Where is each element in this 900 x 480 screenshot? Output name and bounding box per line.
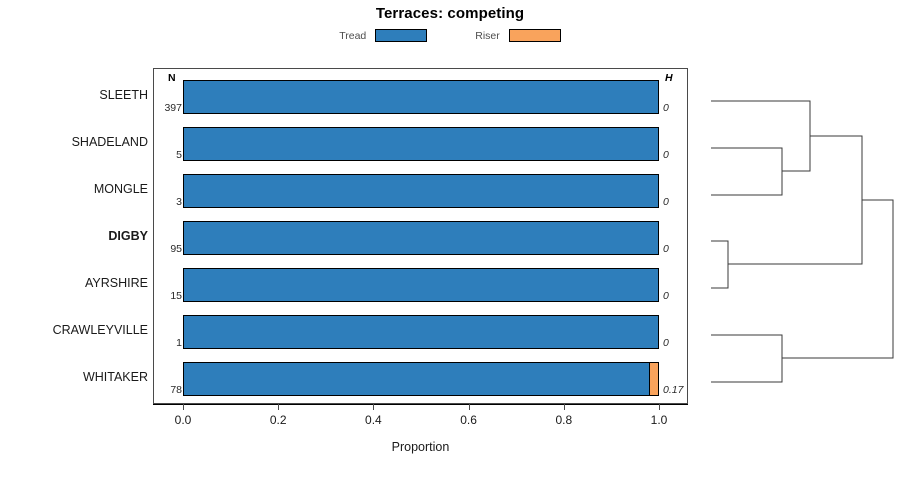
- x-axis-tick: [469, 404, 470, 410]
- chart-root: Terraces: competing Tread Riser N H SLEE…: [0, 0, 900, 480]
- row-n-value: 95: [160, 243, 182, 255]
- dendro-merge-crawleyville-whitaker: [711, 335, 782, 382]
- row-label: CRAWLEYVILLE: [53, 323, 148, 337]
- row-label: DIGBY: [108, 229, 148, 243]
- stacked-bar[interactable]: [183, 362, 659, 396]
- legend-label-riser: Riser: [475, 30, 500, 42]
- legend-label-tread: Tread: [339, 30, 366, 42]
- x-axis-tick-label: 0.4: [353, 413, 393, 427]
- dendro-merge-sleeth-cluster: [711, 101, 810, 171]
- stacked-bar[interactable]: [183, 174, 659, 208]
- legend-swatch-tread: [375, 29, 427, 42]
- dendro-merge-digby-ayrshire: [711, 241, 728, 288]
- x-axis-tick: [564, 404, 565, 410]
- row-label: AYRSHIRE: [85, 276, 148, 290]
- row-label: MONGLE: [94, 182, 148, 196]
- legend-item-riser[interactable]: Riser: [475, 29, 561, 42]
- column-header-n: N: [168, 72, 176, 84]
- row-label: WHITAKER: [83, 370, 148, 384]
- bar-segment-tread[interactable]: [184, 175, 658, 207]
- legend-swatch-riser: [509, 29, 561, 42]
- x-axis-tick: [183, 404, 184, 410]
- dendro-merge-shadeland-mongle: [711, 148, 782, 195]
- row-h-value: 0.17: [663, 384, 693, 396]
- row-label: SLEETH: [99, 88, 148, 102]
- stacked-bar[interactable]: [183, 127, 659, 161]
- bar-segment-tread[interactable]: [184, 269, 658, 301]
- row-h-value: 0: [663, 290, 693, 302]
- column-header-h: H: [665, 72, 673, 84]
- bar-segment-tread[interactable]: [184, 128, 658, 160]
- row-n-value: 15: [160, 290, 182, 302]
- x-axis-title: Proportion: [153, 440, 688, 454]
- row-n-value: 1: [160, 337, 182, 349]
- legend: Tread Riser: [0, 29, 900, 42]
- bar-segment-tread[interactable]: [184, 316, 658, 348]
- bar-segment-riser[interactable]: [649, 363, 658, 395]
- x-axis-tick-label: 0.0: [163, 413, 203, 427]
- row-n-value: 3: [160, 196, 182, 208]
- x-axis-tick-label: 0.2: [258, 413, 298, 427]
- x-axis-tick: [659, 404, 660, 410]
- row-h-value: 0: [663, 243, 693, 255]
- x-axis-tick: [373, 404, 374, 410]
- page-title: Terraces: competing: [0, 5, 900, 22]
- legend-spacer: [427, 35, 475, 36]
- legend-item-tread[interactable]: Tread: [339, 29, 427, 42]
- bar-segment-tread[interactable]: [184, 222, 658, 254]
- x-axis-tick-label: 1.0: [639, 413, 679, 427]
- row-h-value: 0: [663, 337, 693, 349]
- dendro-merge-root: [782, 200, 893, 358]
- row-h-value: 0: [663, 196, 693, 208]
- bar-segment-tread[interactable]: [184, 363, 649, 395]
- stacked-bar[interactable]: [183, 80, 659, 114]
- dendro-merge-upper-block: [728, 136, 862, 264]
- stacked-bar[interactable]: [183, 268, 659, 302]
- dendrogram: [690, 60, 900, 410]
- bar-segment-tread[interactable]: [184, 81, 658, 113]
- x-axis-line: [153, 404, 688, 405]
- x-axis-tick-label: 0.8: [544, 413, 584, 427]
- row-label: SHADELAND: [72, 135, 148, 149]
- row-h-value: 0: [663, 102, 693, 114]
- row-h-value: 0: [663, 149, 693, 161]
- stacked-bar[interactable]: [183, 221, 659, 255]
- row-n-value: 78: [160, 384, 182, 396]
- row-n-value: 397: [160, 102, 182, 114]
- x-axis-tick: [278, 404, 279, 410]
- x-axis-tick-label: 0.6: [449, 413, 489, 427]
- stacked-bar[interactable]: [183, 315, 659, 349]
- row-n-value: 5: [160, 149, 182, 161]
